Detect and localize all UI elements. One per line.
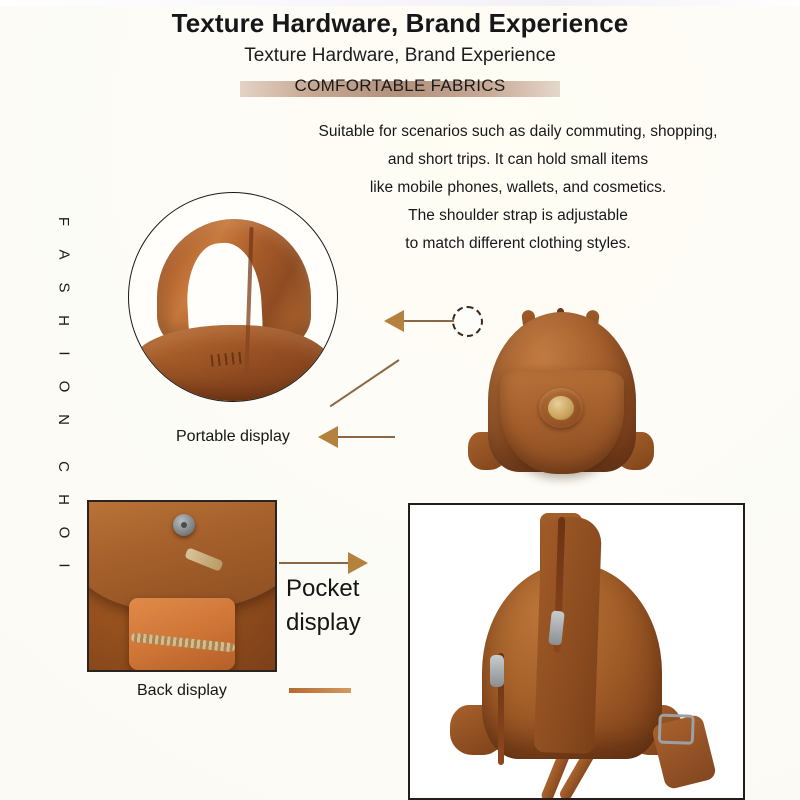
ribbon-label: COMFORTABLE FABRICS xyxy=(0,76,800,96)
brand-letter: A xyxy=(56,249,71,259)
brand-letter: H xyxy=(56,315,71,326)
big-center-panel xyxy=(534,516,602,754)
poster-canvas: Texture Hardware, Brand Experience Textu… xyxy=(0,0,800,800)
caption-pocket-line-1: Pocket xyxy=(286,572,361,606)
handle-illustration xyxy=(129,193,337,401)
pocket-arrow-head-icon xyxy=(348,552,368,574)
big-strap-buckle xyxy=(651,714,717,791)
metal-stud-icon xyxy=(173,514,195,536)
page-title: Texture Hardware, Brand Experience xyxy=(0,8,800,39)
portable-handle-photo xyxy=(128,192,338,402)
caption-pocket-line-2: display xyxy=(286,606,361,640)
brand-letter: N xyxy=(56,414,71,425)
description-text: Suitable for scenarios such as daily com… xyxy=(268,118,768,258)
vertical-brand-text: F A S H I O N C H O I xyxy=(58,205,70,582)
wallet-zipper xyxy=(131,633,235,653)
hero-gold-clasp xyxy=(539,388,583,428)
page-subtitle: Texture Hardware, Brand Experience xyxy=(0,45,800,67)
portable-arrow-head-icon xyxy=(318,426,338,448)
brand-letter: C xyxy=(56,461,71,472)
caption-back-display: Back display xyxy=(137,682,227,700)
description-line-3: like mobile phones, wallets, and cosmeti… xyxy=(268,174,768,202)
brand-letter: I xyxy=(56,563,71,567)
big-side-zipper-pull xyxy=(490,655,504,687)
caption-pocket-display: Pocket display xyxy=(286,572,361,640)
wallet-object xyxy=(129,598,235,670)
brand-letter: O xyxy=(56,381,71,393)
brand-letter: H xyxy=(56,494,71,505)
caption-portable-display: Portable display xyxy=(176,428,290,446)
back-view-photo xyxy=(408,503,745,800)
pocket-arrow-line xyxy=(279,562,351,564)
description-line-1: Suitable for scenarios such as daily com… xyxy=(268,118,768,146)
brand-letter: F xyxy=(56,217,71,226)
accent-dash-bar xyxy=(289,688,351,693)
marker-arrow-line xyxy=(404,320,454,322)
description-line-4: The shoulder strap is adjustable xyxy=(268,202,768,230)
description-line-2: and short trips. It can hold small items xyxy=(268,146,768,174)
hero-backpack-photo xyxy=(466,282,656,497)
brand-letter: I xyxy=(56,351,71,355)
back-display-photo xyxy=(87,500,277,672)
description-line-5: to match different clothing styles. xyxy=(268,230,768,258)
portable-connector-line xyxy=(338,436,395,438)
marker-arrow-head-icon xyxy=(384,310,404,332)
portable-connector-diagonal xyxy=(330,359,400,407)
brand-letter: O xyxy=(56,527,71,539)
brand-letter: S xyxy=(56,282,71,292)
